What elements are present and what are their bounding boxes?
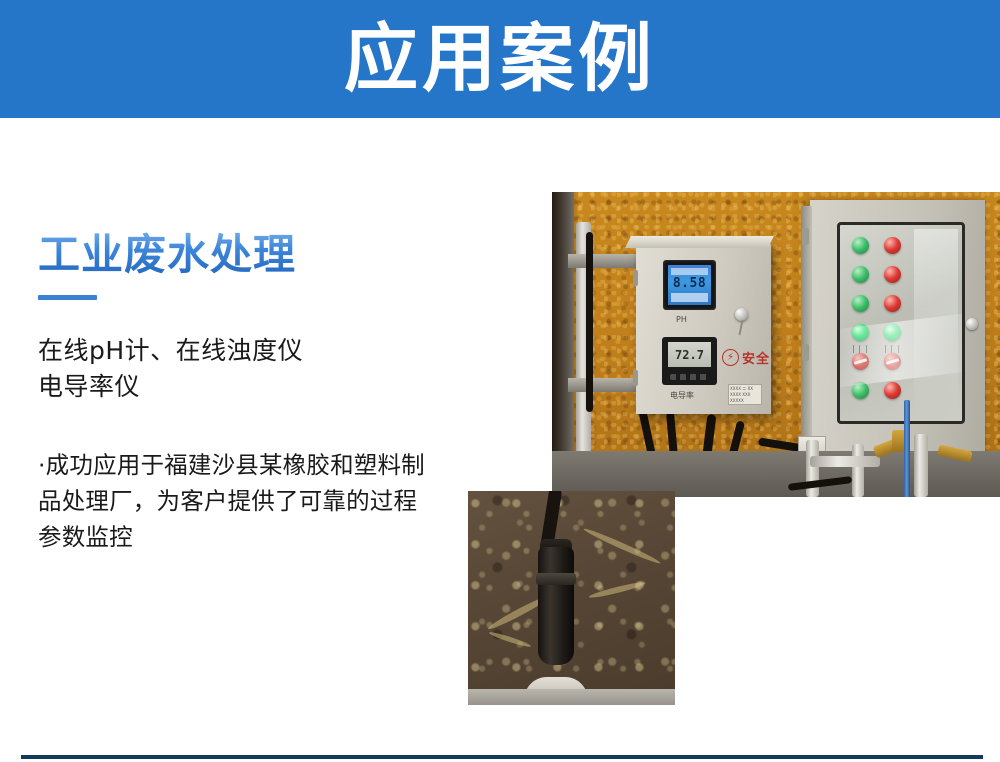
control-panel-photo: 8.58 PH 72.7 电导率 ⚡ 安全 XXXX 二 XX XXXX XXX… — [552, 192, 1000, 497]
photo-cable-a — [586, 232, 593, 412]
photo-wall-strut-lower — [568, 378, 642, 392]
photo-pipe-white-3 — [914, 434, 928, 497]
conductivity-reading: 72.7 — [675, 349, 704, 361]
page-title: 应用案例 — [344, 22, 656, 96]
conductivity-meter-label: 电导率 — [670, 390, 694, 401]
heading-divider — [38, 295, 97, 300]
sensor-probe-body — [538, 547, 574, 665]
ph-meter-display: 8.58 — [668, 265, 711, 305]
lamp-row2-right[interactable] — [884, 266, 916, 295]
instrument-enclosure: 8.58 PH 72.7 电导率 ⚡ 安全 XXXX 二 XX XXXX XXX… — [636, 244, 771, 414]
sensor-probe-photo — [468, 491, 675, 705]
photo-pipe-blue — [904, 400, 910, 497]
lamp-row6-left[interactable] — [852, 382, 884, 411]
photo-wall-strut-upper — [568, 254, 642, 268]
case-description: ·成功应用于福建沙县某橡胶和塑料制品处理厂，为客户提供了可靠的过程参数监控 — [38, 448, 438, 555]
product-list-line-2: 电导率仪 — [38, 369, 438, 405]
lamp-row1-right[interactable] — [884, 237, 916, 266]
safety-marking: ⚡ 安全 — [722, 348, 770, 367]
ph-display-keypad-bar — [671, 293, 708, 302]
enclosure-lock-key — [738, 320, 743, 335]
lamp-row6-right[interactable] — [884, 382, 916, 411]
ph-meter[interactable]: 8.58 — [663, 260, 716, 310]
product-list: 在线pH计、在线浊度仪 电导率仪 — [38, 333, 438, 404]
lamp-row1-left[interactable] — [852, 237, 884, 266]
content-text-column: 工业废水处理 在线pH计、在线浊度仪 电导率仪 ·成功应用于福建沙县某橡胶和塑料… — [38, 232, 438, 556]
lamp-row3-left[interactable] — [852, 295, 884, 324]
enclosure-lid — [625, 236, 774, 248]
lamp-row2-left[interactable] — [852, 266, 884, 295]
cabinet-hinge-mid — [802, 344, 809, 361]
photo-pipe-white-cross — [810, 456, 880, 467]
photo-pipe-white-2 — [852, 444, 864, 497]
cabinet-door-latch[interactable] — [966, 318, 978, 330]
conductivity-meter[interactable]: 72.7 — [662, 337, 717, 385]
cabinet-hinge-top — [802, 228, 809, 245]
enclosure-hinge-bottom — [633, 370, 638, 386]
enclosure-nameplate: XXXX 二 XX XXXX XXX XXXXX — [728, 384, 762, 405]
conductivity-meter-keypad[interactable] — [670, 374, 709, 380]
page-header-banner: 应用案例 — [0, 0, 1000, 118]
ph-meter-label: PH — [676, 315, 687, 324]
high-voltage-icon: ⚡ — [722, 349, 739, 366]
section-heading: 工业废水处理 — [38, 232, 438, 277]
enclosure-hinge-top — [633, 270, 638, 286]
probe-collar — [536, 573, 576, 585]
product-list-line-1: 在线pH计、在线浊度仪 — [38, 333, 438, 369]
bottom-divider — [21, 755, 983, 759]
inset-floor-edge — [468, 689, 675, 705]
ph-display-header-bar — [671, 268, 707, 275]
cabinet-viewing-window — [837, 222, 965, 424]
safety-label: 安全 — [742, 348, 770, 367]
cabinet-glass-glare-side — [914, 229, 958, 417]
ph-reading: 8.58 — [673, 277, 706, 290]
conductivity-meter-display: 72.7 — [668, 342, 711, 367]
